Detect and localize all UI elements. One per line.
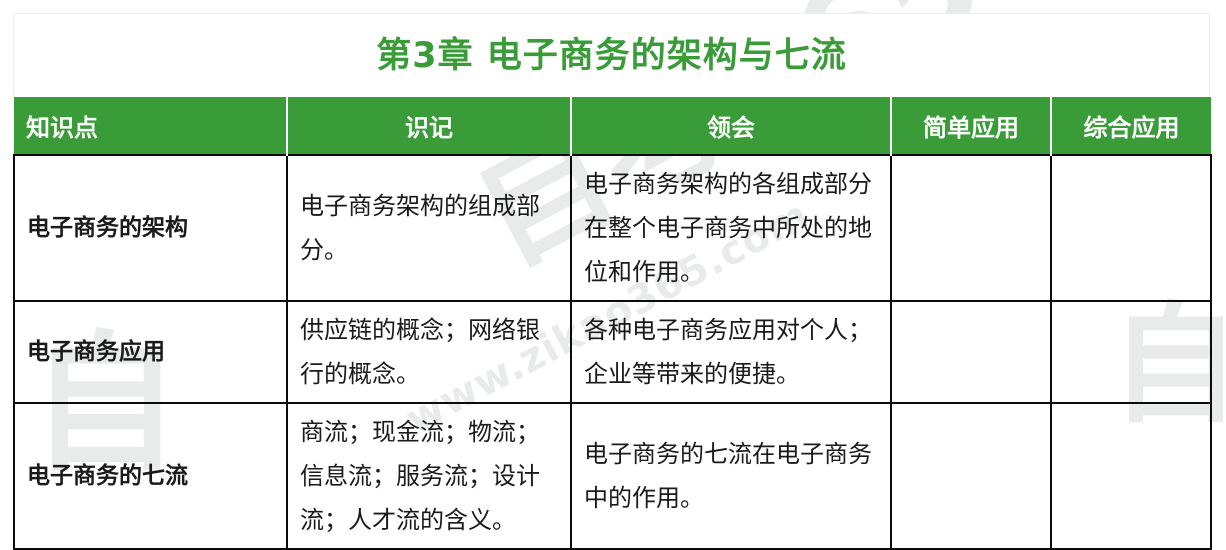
cell-simple-application: [891, 301, 1051, 403]
cell-recognize: 供应链的概念；网络银行的概念。: [287, 301, 571, 403]
cell-knowledge-point: 电子商务的架构: [14, 155, 287, 301]
column-header-comprehensive-application: 综合应用: [1051, 97, 1211, 155]
table-header: 知识点 识记 领会 简单应用 综合应用: [14, 97, 1211, 155]
cell-comprehend: 电子商务架构的各组成部分在整个电子商务中所处的地位和作用。: [571, 155, 891, 301]
cell-comprehend: 电子商务的七流在电子商务中的作用。: [571, 403, 891, 549]
cell-comprehensive-application: [1051, 301, 1211, 403]
table-header-row: 知识点 识记 领会 简单应用 综合应用: [14, 97, 1211, 155]
chapter-title-band: 第3章 电子商务的架构与七流: [13, 13, 1210, 97]
table-body: 电子商务的架构 电子商务架构的组成部分。 电子商务架构的各组成部分在整个电子商务…: [14, 155, 1211, 549]
column-header-comprehend: 领会: [571, 97, 891, 155]
cell-comprehensive-application: [1051, 403, 1211, 549]
column-header-recognize: 识记: [287, 97, 571, 155]
knowledge-point-table: 知识点 识记 领会 简单应用 综合应用 电子商务的架构 电子商务架构的组成部分。…: [13, 97, 1212, 550]
cell-knowledge-point: 电子商务的七流: [14, 403, 287, 549]
cell-knowledge-point: 电子商务应用: [14, 301, 287, 403]
column-header-knowledge-point: 知识点: [14, 97, 287, 155]
column-header-simple-application: 简单应用: [891, 97, 1051, 155]
table-row: 电子商务的架构 电子商务架构的组成部分。 电子商务架构的各组成部分在整个电子商务…: [14, 155, 1211, 301]
cell-comprehend: 各种电子商务应用对个人；企业等带来的便捷。: [571, 301, 891, 403]
cell-recognize: 电子商务架构的组成部分。: [287, 155, 571, 301]
page-root: 自 自考365 www.zikao365.com 自 第3章 电子商务的架构与七…: [0, 0, 1226, 524]
cell-comprehensive-application: [1051, 155, 1211, 301]
cell-recognize: 商流；现金流；物流；信息流；服务流；设计流；人才流的含义。: [287, 403, 571, 549]
cell-simple-application: [891, 155, 1051, 301]
table-row: 电子商务的七流 商流；现金流；物流；信息流；服务流；设计流；人才流的含义。 电子…: [14, 403, 1211, 549]
cell-simple-application: [891, 403, 1051, 549]
page-title: 第3章 电子商务的架构与七流: [376, 36, 847, 76]
table-row: 电子商务应用 供应链的概念；网络银行的概念。 各种电子商务应用对个人；企业等带来…: [14, 301, 1211, 403]
